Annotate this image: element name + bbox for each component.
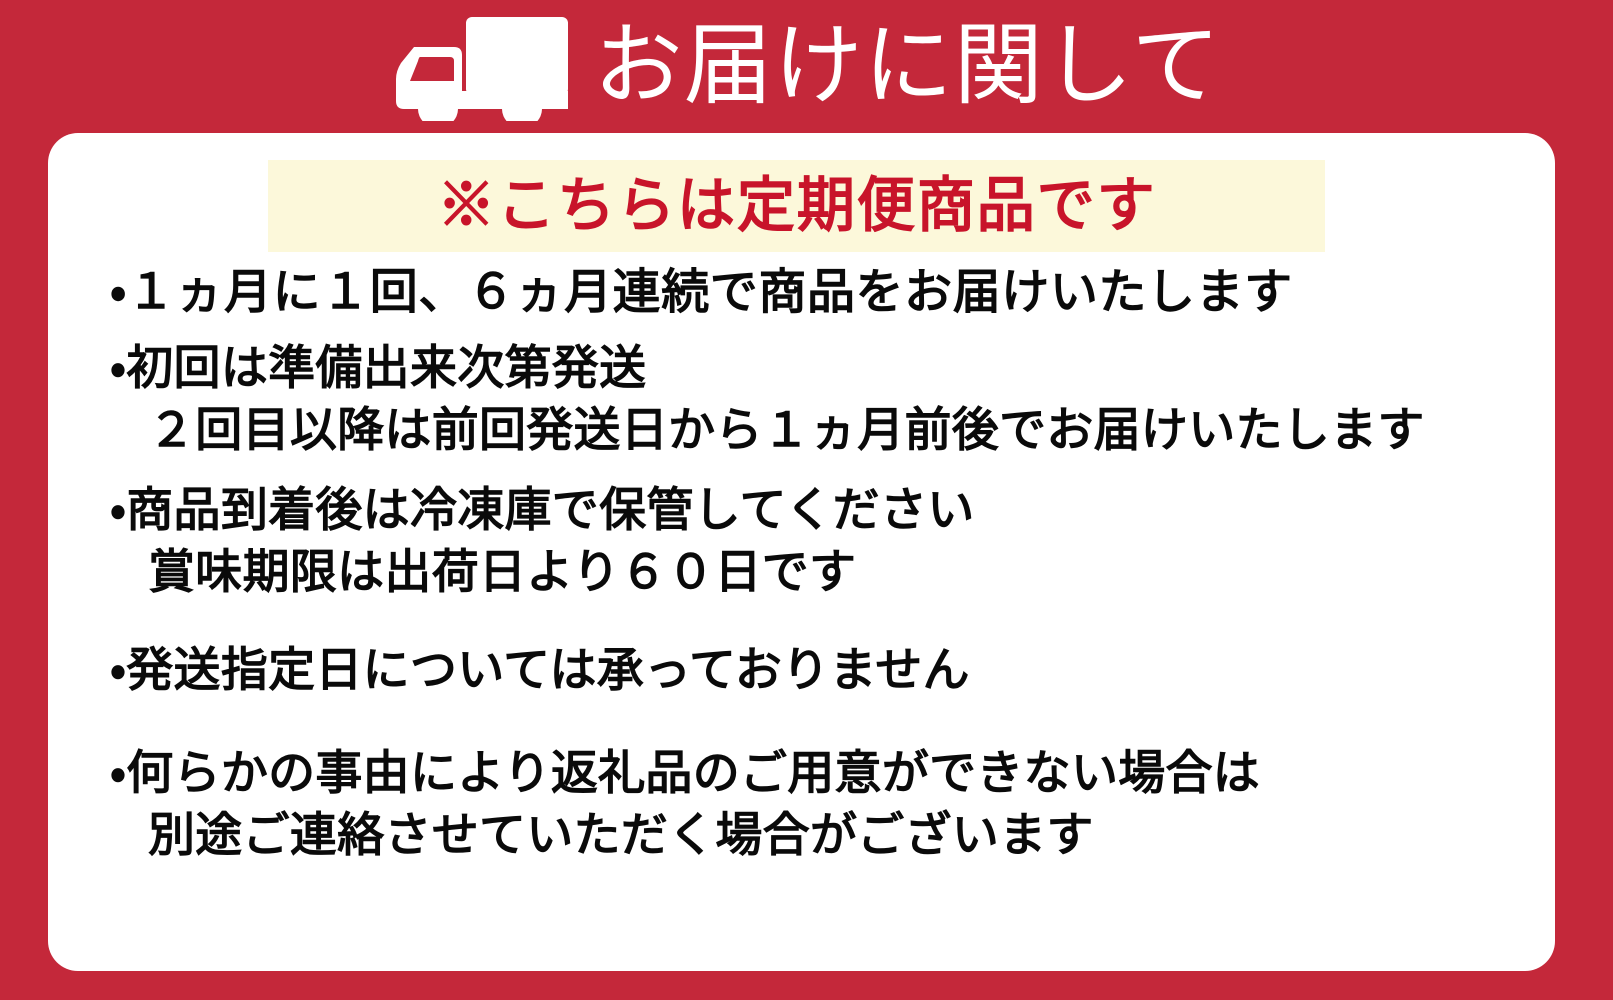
subscription-notice-text: ※こちらは定期便商品です — [437, 176, 1156, 236]
poster-header: お届けに関して — [0, 0, 1613, 133]
list-item-line: 別途ご連絡させていただく場合がございます — [110, 805, 1510, 867]
list-item: ・何らかの事由により返礼品のご用意ができない場合は 別途ご連絡させていただく場合… — [110, 743, 1510, 867]
delivery-terms-list: ・１ヵ月に１回、６ヵ月連続で商品をお届けいたします ・初回は準備出来次第発送 ２… — [110, 261, 1510, 867]
list-item: ・初回は準備出来次第発送 ２回目以降は前回発送日から１ヵ月前後でお届けいたします — [110, 338, 1510, 462]
page-title: お届けに関して — [594, 23, 1222, 112]
list-item: ・発送指定日については承っておりません — [110, 640, 1510, 702]
list-item-line: ・初回は準備出来次第発送 — [110, 338, 1510, 400]
list-item: ・商品到着後は冷凍庫で保管してください 賞味期限は出荷日より６０日です — [110, 480, 1510, 604]
subscription-notice-banner: ※こちらは定期便商品です — [268, 160, 1325, 252]
delivery-truck-icon — [392, 17, 568, 121]
list-item-line: ・１ヵ月に１回、６ヵ月連続で商品をお届けいたします — [110, 261, 1510, 324]
list-item-line: ・発送指定日については承っておりません — [110, 640, 1510, 702]
delivery-info-poster: お届けに関して ※こちらは定期便商品です ・１ヵ月に１回、６ヵ月連続で商品をお届… — [0, 0, 1613, 1000]
list-item-line: ・何らかの事由により返礼品のご用意ができない場合は — [110, 743, 1510, 805]
list-item-line: ・商品到着後は冷凍庫で保管してください — [110, 480, 1510, 542]
info-card: ※こちらは定期便商品です ・１ヵ月に１回、６ヵ月連続で商品をお届けいたします ・… — [48, 133, 1555, 971]
list-item-line: ２回目以降は前回発送日から１ヵ月前後でお届けいたします — [110, 400, 1510, 462]
list-item: ・１ヵ月に１回、６ヵ月連続で商品をお届けいたします — [110, 261, 1510, 324]
list-item-line: 賞味期限は出荷日より６０日です — [110, 542, 1510, 604]
